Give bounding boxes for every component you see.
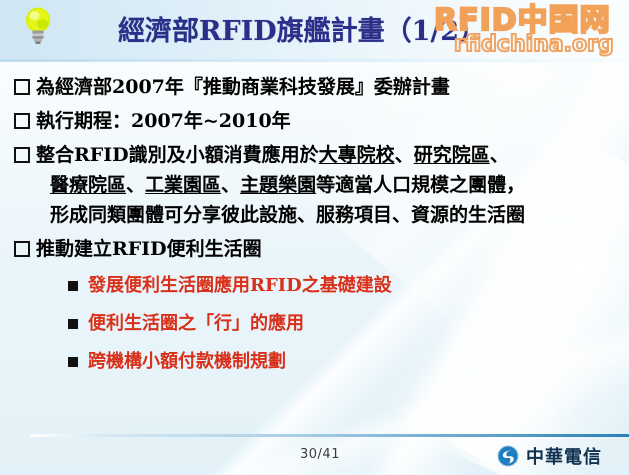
filled-square-bullet-icon [68,319,78,329]
hollow-square-bullet-icon [14,79,30,95]
sub-bullet-item: 便利生活圈之「行」的應用 [0,309,629,338]
bullet-line: 整合RFID識別及小額消費應用於大專院校、研究院區、 [36,140,629,170]
bullet-line: 推動建立RFID便利生活圈 [36,234,629,264]
sub-bullet-item: 發展便利生活圈應用RFID之基礎建設 [0,271,629,300]
lightbulb-icon [22,5,54,45]
sub-bullet-text: 便利生活圈之「行」的應用 [88,313,304,334]
bullet-line: 執行期程：2007年~2010年 [36,106,629,136]
page-title: 經濟部RFID旗艦計畫（1/2） [118,15,618,49]
filled-square-bullet-icon [68,357,78,367]
hollow-square-bullet-icon [14,241,30,257]
bullet-item: 推動建立RFID便利生活圈 [0,234,629,264]
slide-canvas: 經濟部RFID旗艦計畫（1/2） RFID中国网 rfidchina.org 為… [0,0,629,475]
footer-divider [30,434,629,437]
bullet-line: 形成同類團體可分享彼此設施、服務項目、資源的生活圈 [36,200,629,230]
brand-name: 中華電信 [526,443,602,469]
brand-logo: 中華電信 [497,443,602,469]
chunghwa-telecom-logo-icon [497,445,519,467]
hollow-square-bullet-icon [14,113,30,129]
filled-square-bullet-icon [68,281,78,291]
sub-bullet-item: 跨機構小額付款機制規劃 [0,347,629,376]
bullet-line: 醫療院區、工業園區、主題樂園等適當人口規模之團體， [36,170,629,200]
bullet-item: 整合RFID識別及小額消費應用於大專院校、研究院區、 醫療院區、工業園區、主題樂… [0,140,629,230]
bullet-item: 執行期程：2007年~2010年 [0,106,629,136]
slide-body: 為經濟部2007年『推動商業科技發展』委辦計畫 執行期程：2007年~2010年… [0,72,629,422]
bullet-line: 為經濟部2007年『推動商業科技發展』委辦計畫 [36,72,629,102]
sub-bullet-text: 發展便利生活圈應用RFID之基礎建設 [88,275,392,296]
hollow-square-bullet-icon [14,147,30,163]
bullet-item: 為經濟部2007年『推動商業科技發展』委辦計畫 [0,72,629,102]
page-number: 30/41 [300,447,340,462]
sub-bullet-text: 跨機構小額付款機制規劃 [88,351,286,372]
